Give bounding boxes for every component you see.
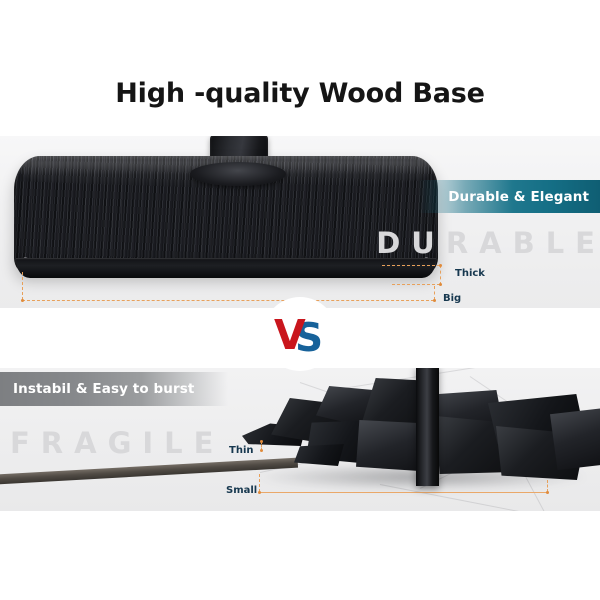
big-guide-right <box>434 286 435 300</box>
big-measure-line <box>22 300 434 301</box>
watermark-durable: DURABLE <box>376 226 600 260</box>
product-comparison-infographic: High -quality Wood Base Durable & Elegan… <box>0 0 600 600</box>
badge-label-durable: Durable & Elegant <box>448 189 589 205</box>
thick-dot-bottom <box>439 283 442 286</box>
glass-shard <box>550 408 600 470</box>
watermark-fragile: FRAGILE <box>10 426 224 460</box>
thick-dot-top <box>439 264 442 267</box>
monitor-pole <box>416 368 439 486</box>
small-measure-line <box>259 492 547 493</box>
big-guide-left <box>22 272 23 300</box>
thin-dot-top <box>260 440 263 443</box>
top-panel-durable: Durable & Elegant DURABLE Thick Big <box>0 136 600 308</box>
thick-leader-bottom <box>392 284 440 285</box>
annotation-big: Big <box>443 293 461 304</box>
versus-letter-v: V <box>274 315 306 356</box>
versus-badge: V S <box>266 300 334 368</box>
annotation-thin: Thin <box>229 445 254 456</box>
annotation-small: Small <box>226 485 257 496</box>
page-title: High -quality Wood Base <box>0 78 600 109</box>
thin-dot-bottom <box>260 449 263 452</box>
annotation-thick: Thick <box>455 268 485 279</box>
status-badge-durable: Durable & Elegant <box>418 180 600 213</box>
status-badge-fragile: Instabil & Easy to burst <box>0 372 228 406</box>
thick-bracket <box>440 265 441 285</box>
mount-collar <box>190 162 286 186</box>
glass-shard-detached <box>294 444 344 466</box>
wood-front-edge <box>16 258 436 278</box>
big-dot-left <box>21 299 24 302</box>
small-dot-right <box>546 491 549 494</box>
small-dot-left <box>258 491 261 494</box>
badge-label-fragile: Instabil & Easy to burst <box>13 381 194 397</box>
small-guide-left <box>259 474 260 492</box>
wood-base-image <box>14 156 438 276</box>
big-dot-right <box>433 299 436 302</box>
thick-leader-top <box>382 265 440 266</box>
bottom-panel-fragile: Instabil & Easy to burst FRAGILE Thin Sm… <box>0 368 600 511</box>
